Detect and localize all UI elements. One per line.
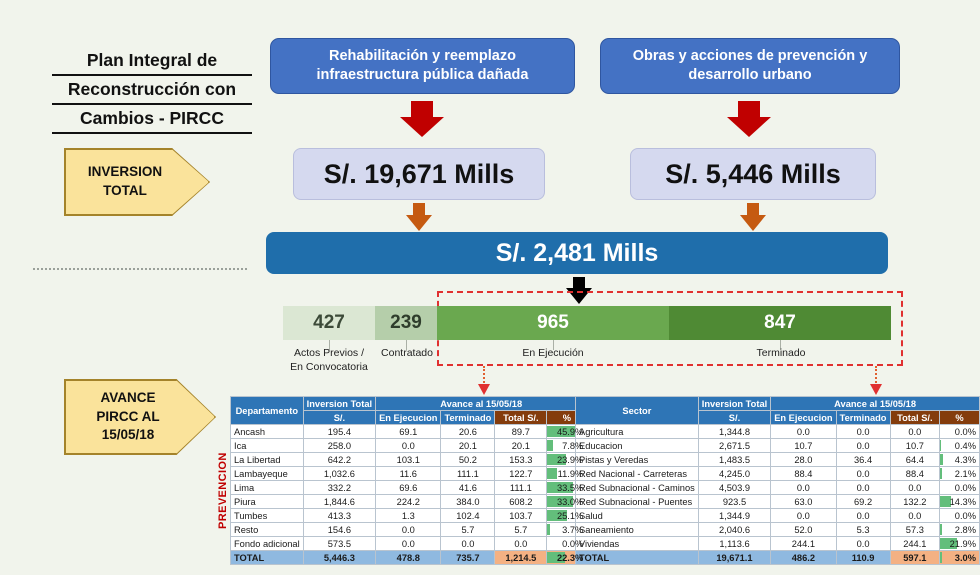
cell-terminado: 0.0: [836, 425, 890, 439]
cell-inversion: 2,040.6: [698, 523, 770, 537]
cell-ejecucion: 103.1: [376, 453, 441, 467]
cell-total: 5.7: [495, 523, 547, 537]
orange-down-arrow-icon-left: [406, 203, 432, 231]
cell-total: 10.7: [890, 439, 940, 453]
cell-percent: 4.3%: [940, 453, 980, 467]
table-row: Resto154.60.05.75.73.7%: [231, 523, 587, 537]
cell-name: Tumbes: [231, 509, 304, 523]
col-header-departamento: Departamento: [231, 397, 304, 425]
cell-inversion: 573.5: [303, 537, 375, 551]
cell-percent: 2.1%: [940, 467, 980, 481]
cell-terminado: 69.2: [836, 495, 890, 509]
cell-terminado: 5.7: [441, 523, 495, 537]
cell-name: Agricultura: [576, 425, 699, 439]
stage-bar-chart: 427 239 965 847: [283, 306, 891, 340]
percent-value: 0.0%: [562, 539, 583, 549]
cell-terminado: 735.7: [441, 551, 495, 565]
cell-inversion: 154.6: [303, 523, 375, 537]
cell-name: Salud: [576, 509, 699, 523]
cell-inversion: 1,483.5: [698, 453, 770, 467]
cell-inversion: 5,446.3: [303, 551, 375, 565]
percent-value: 21.9%: [950, 539, 976, 549]
cell-percent: 0.0%: [940, 425, 980, 439]
box-rehabilitacion: Rehabilitación y reemplazo infraestructu…: [270, 38, 575, 94]
table-row: Tumbes413.31.3102.4103.725.1%: [231, 509, 587, 523]
cell-percent: 14.3%: [940, 495, 980, 509]
col-header-total-soles: Total S/.: [890, 411, 940, 425]
cell-terminado: 50.2: [441, 453, 495, 467]
cell-name: Piura: [231, 495, 304, 509]
cell-total: 111.1: [495, 481, 547, 495]
table-row: Ancash195.469.120.689.745.9%: [231, 425, 587, 439]
percent-value: 33.0%: [557, 497, 583, 507]
cell-name: La Libertad: [231, 453, 304, 467]
table-row: Pistas y Veredas1,483.528.036.464.44.3%: [576, 453, 980, 467]
inversion-total-label: INVERSION TOTAL: [66, 149, 184, 215]
cell-total: 153.3: [495, 453, 547, 467]
cell-percent: 3.7%: [547, 523, 587, 537]
percent-value: 3.7%: [562, 525, 583, 535]
cell-inversion: 195.4: [303, 425, 375, 439]
avance-line-3: 15/05/18: [96, 426, 159, 445]
cell-name: TOTAL: [231, 551, 304, 565]
percent-value: 22.3%: [557, 553, 583, 563]
cell-inversion: 4,245.0: [698, 467, 770, 481]
stage-segment-contratado: 239: [375, 306, 437, 340]
cell-inversion: 19,671.1: [698, 551, 770, 565]
cell-ejecucion: 69.6: [376, 481, 441, 495]
table-header-row-1: Departamento Inversion Total Avance al 1…: [231, 397, 587, 411]
cell-ejecucion: 88.4: [771, 467, 836, 481]
cell-total: 20.1: [495, 439, 547, 453]
percent-value: 23.9%: [557, 455, 583, 465]
connector-arrow-icon-right: [869, 366, 883, 396]
cell-total: 244.1: [890, 537, 940, 551]
stage-label-terminado: Terminado: [728, 346, 834, 360]
cell-ejecucion: 478.8: [376, 551, 441, 565]
percent-databar: [940, 468, 942, 479]
percent-value: 7.8%: [562, 441, 583, 451]
table-row: TOTAL19,671.1486.2110.9597.13.0%: [576, 551, 980, 565]
table-row: Viviendas1,113.6244.10.0244.121.9%: [576, 537, 980, 551]
table-row: Red Nacional - Carreteras4,245.088.40.08…: [576, 467, 980, 481]
cell-name: Lambayeque: [231, 467, 304, 481]
cell-total: 0.0: [495, 537, 547, 551]
orange-down-arrow-icon-right: [740, 203, 766, 231]
reconstruccion-grid: Sector Inversion Total Avance al 15/05/1…: [575, 396, 980, 565]
cell-terminado: 5.3: [836, 523, 890, 537]
avance-line-2: PIRCC AL: [96, 408, 159, 427]
avance-line-1: AVANCE: [96, 389, 159, 408]
page-title-line-1: Plan Integral de: [52, 48, 252, 76]
cell-total: 64.4: [890, 453, 940, 467]
cell-inversion: 332.2: [303, 481, 375, 495]
table-row: Fondo adicional573.50.00.00.00.0%: [231, 537, 587, 551]
avance-label: AVANCE PIRCC AL 15/05/18: [66, 380, 190, 454]
table-row: Piura1,844.6224.2384.0608.233.0%: [231, 495, 587, 509]
percent-databar: [940, 524, 942, 535]
cell-name: Pistas y Veredas: [576, 453, 699, 467]
cell-percent: 33.0%: [547, 495, 587, 509]
inversion-total-line-2: TOTAL: [88, 182, 162, 201]
stage-label-actos-previos: Actos Previos / En Convocatoria: [277, 346, 381, 374]
cell-total: 0.0: [890, 425, 940, 439]
infographic-canvas: Plan Integral de Reconstrucción con Camb…: [0, 0, 980, 575]
page-title-line-2: Reconstrucción con: [52, 77, 252, 105]
percent-value: 0.0%: [955, 427, 976, 437]
inversion-total-line-1: INVERSION: [88, 163, 162, 182]
cell-name: Viviendas: [576, 537, 699, 551]
cell-total: 57.3: [890, 523, 940, 537]
cell-ejecucion: 0.0: [376, 439, 441, 453]
cell-terminado: 0.0: [836, 467, 890, 481]
percent-value: 3.0%: [955, 553, 976, 563]
percent-value: 0.4%: [955, 441, 976, 451]
cell-inversion: 923.5: [698, 495, 770, 509]
col-header-en-ejecucion: En Ejecucion: [376, 411, 441, 425]
amount-reconstruccion: S/. 19,671 Mills: [293, 148, 545, 200]
cell-ejecucion: 224.2: [376, 495, 441, 509]
cell-ejecucion: 63.0: [771, 495, 836, 509]
cell-total: 132.2: [890, 495, 940, 509]
percent-value: 2.1%: [955, 469, 976, 479]
cell-percent: 2.8%: [940, 523, 980, 537]
cell-total: 597.1: [890, 551, 940, 565]
stage-segment-actos-previos: 427: [283, 306, 375, 340]
cell-ejecucion: 0.0: [771, 481, 836, 495]
cell-percent: 0.0%: [547, 537, 587, 551]
page-title: Plan Integral de Reconstrucción con Camb…: [52, 48, 252, 135]
col-header-inversion-total: Inversion Total: [303, 397, 375, 411]
cell-terminado: 20.1: [441, 439, 495, 453]
col-header-terminado: Terminado: [441, 411, 495, 425]
cell-ejecucion: 0.0: [771, 425, 836, 439]
cell-inversion: 4,503.9: [698, 481, 770, 495]
percent-value: 4.3%: [955, 455, 976, 465]
percent-databar: [940, 552, 942, 563]
table-prevencion: Departamento Inversion Total Avance al 1…: [230, 396, 587, 565]
stage-segment-en-ejecucion: 965: [437, 306, 669, 340]
red-down-arrow-icon-left: [400, 101, 444, 137]
cell-inversion: 2,671.5: [698, 439, 770, 453]
table-row: Red Subnacional - Caminos4,503.90.00.00.…: [576, 481, 980, 495]
cell-name: Fondo adicional: [231, 537, 304, 551]
col-header-en-ejecucion: En Ejecucion: [771, 411, 836, 425]
section-divider: [33, 268, 247, 270]
cell-name: Resto: [231, 523, 304, 537]
cell-percent: 22.3%: [547, 551, 587, 565]
cell-inversion: 413.3: [303, 509, 375, 523]
cell-percent: 23.9%: [547, 453, 587, 467]
cell-total: 0.0: [890, 481, 940, 495]
cell-inversion: 1,844.6: [303, 495, 375, 509]
col-header-inversion-total: Inversion Total: [698, 397, 770, 411]
col-header-total-soles: Total S/.: [495, 411, 547, 425]
prevencion-grid: Departamento Inversion Total Avance al 1…: [230, 396, 587, 565]
percent-value: 45.9%: [557, 427, 583, 437]
cell-ejecucion: 1.3: [376, 509, 441, 523]
cell-percent: 21.9%: [940, 537, 980, 551]
percent-value: 25.1%: [557, 511, 583, 521]
table-row: Agricultura1,344.80.00.00.00.0%: [576, 425, 980, 439]
cell-ejecucion: 11.6: [376, 467, 441, 481]
cell-terminado: 0.0: [836, 439, 890, 453]
cell-percent: 0.4%: [940, 439, 980, 453]
cell-total: 88.4: [890, 467, 940, 481]
cell-percent: 7.8%: [547, 439, 587, 453]
cell-inversion: 1,344.9: [698, 509, 770, 523]
box-obras-prevencion: Obras y acciones de prevención y desarro…: [600, 38, 900, 94]
amount-total-bar: S/. 2,481 Mills: [266, 232, 888, 274]
prevencion-body: Ancash195.469.120.689.745.9%Ica258.00.02…: [231, 425, 587, 565]
page-title-line-3: Cambios - PIRCC: [52, 106, 252, 134]
cell-total: 1,214.5: [495, 551, 547, 565]
cell-name: Ica: [231, 439, 304, 453]
cell-terminado: 102.4: [441, 509, 495, 523]
percent-databar: [940, 454, 943, 465]
cell-inversion: 1,032.6: [303, 467, 375, 481]
cell-percent: 11.9%: [547, 467, 587, 481]
table-row: TOTAL5,446.3478.8735.71,214.522.3%: [231, 551, 587, 565]
cell-ejecucion: 28.0: [771, 453, 836, 467]
table-row: La Libertad642.2103.150.2153.323.9%: [231, 453, 587, 467]
table-reconstruccion: Sector Inversion Total Avance al 15/05/1…: [575, 396, 980, 565]
stage-segment-terminado: 847: [669, 306, 891, 340]
cell-name: Lima: [231, 481, 304, 495]
cell-total: 0.0: [890, 509, 940, 523]
cell-name: Red Subnacional - Caminos: [576, 481, 699, 495]
cell-name: Saneamiento: [576, 523, 699, 537]
percent-databar: [547, 468, 556, 479]
cell-ejecucion: 244.1: [771, 537, 836, 551]
percent-value: 14.3%: [950, 497, 976, 507]
cell-terminado: 36.4: [836, 453, 890, 467]
cell-percent: 0.0%: [940, 481, 980, 495]
cell-total: 122.7: [495, 467, 547, 481]
percent-value: 0.0%: [955, 483, 976, 493]
col-header-currency: S/.: [698, 411, 770, 425]
cell-name: Red Subnacional - Puentes: [576, 495, 699, 509]
stage-label-contratado: Contratado: [371, 346, 443, 360]
col-header-avance-group: Avance al 15/05/18: [376, 397, 587, 411]
connector-arrow-icon-left: [477, 366, 491, 396]
table-row: Salud1,344.90.00.00.00.0%: [576, 509, 980, 523]
table-row: Educacion2,671.510.70.010.70.4%: [576, 439, 980, 453]
percent-value: 0.0%: [955, 511, 976, 521]
stage-label-en-ejecucion: En Ejecución: [497, 346, 609, 360]
cell-name: Ancash: [231, 425, 304, 439]
cell-ejecucion: 486.2: [771, 551, 836, 565]
cell-terminado: 20.6: [441, 425, 495, 439]
percent-value: 33.5%: [557, 483, 583, 493]
cell-percent: 45.9%: [547, 425, 587, 439]
cell-terminado: 0.0: [836, 481, 890, 495]
cell-ejecucion: 69.1: [376, 425, 441, 439]
cell-ejecucion: 10.7: [771, 439, 836, 453]
cell-inversion: 642.2: [303, 453, 375, 467]
red-down-arrow-icon-right: [727, 101, 771, 137]
cell-total: 608.2: [495, 495, 547, 509]
table-header-row-1: Sector Inversion Total Avance al 15/05/1…: [576, 397, 980, 411]
cell-name: Educacion: [576, 439, 699, 453]
col-header-avance-group: Avance al 15/05/18: [771, 397, 980, 411]
percent-value: 2.8%: [955, 525, 976, 535]
cell-percent: 25.1%: [547, 509, 587, 523]
table-row: Saneamiento2,040.652.05.357.32.8%: [576, 523, 980, 537]
cell-terminado: 0.0: [441, 537, 495, 551]
cell-percent: 33.5%: [547, 481, 587, 495]
cell-terminado: 111.1: [441, 467, 495, 481]
cell-percent: 0.0%: [940, 509, 980, 523]
col-header-sector: Sector: [576, 397, 699, 425]
col-header-terminado: Terminado: [836, 411, 890, 425]
cell-total: 89.7: [495, 425, 547, 439]
cell-inversion: 258.0: [303, 439, 375, 453]
table-row: Lima332.269.641.6111.133.5%: [231, 481, 587, 495]
reconstruccion-body: Agricultura1,344.80.00.00.00.0%Educacion…: [576, 425, 980, 565]
cell-ejecucion: 0.0: [376, 537, 441, 551]
cell-ejecucion: 52.0: [771, 523, 836, 537]
cell-inversion: 1,113.6: [698, 537, 770, 551]
table-row: Ica258.00.020.120.17.8%: [231, 439, 587, 453]
amount-prevencion: S/. 5,446 Mills: [630, 148, 876, 200]
percent-databar: [547, 440, 553, 451]
cell-terminado: 0.0: [836, 509, 890, 523]
side-label-prevencion: PREVENCION: [216, 421, 230, 561]
cell-inversion: 1,344.8: [698, 425, 770, 439]
col-header-percent: %: [940, 411, 980, 425]
cell-terminado: 110.9: [836, 551, 890, 565]
cell-total: 103.7: [495, 509, 547, 523]
cell-terminado: 384.0: [441, 495, 495, 509]
cell-ejecucion: 0.0: [376, 523, 441, 537]
cell-ejecucion: 0.0: [771, 509, 836, 523]
cell-percent: 3.0%: [940, 551, 980, 565]
percent-databar: [547, 524, 550, 535]
cell-name: Red Nacional - Carreteras: [576, 467, 699, 481]
cell-terminado: 41.6: [441, 481, 495, 495]
col-header-currency: S/.: [303, 411, 375, 425]
table-row: Red Subnacional - Puentes923.563.069.213…: [576, 495, 980, 509]
cell-name: TOTAL: [576, 551, 699, 565]
table-row: Lambayeque1,032.611.6111.1122.711.9%: [231, 467, 587, 481]
percent-value: 11.9%: [558, 469, 584, 479]
cell-terminado: 0.0: [836, 537, 890, 551]
